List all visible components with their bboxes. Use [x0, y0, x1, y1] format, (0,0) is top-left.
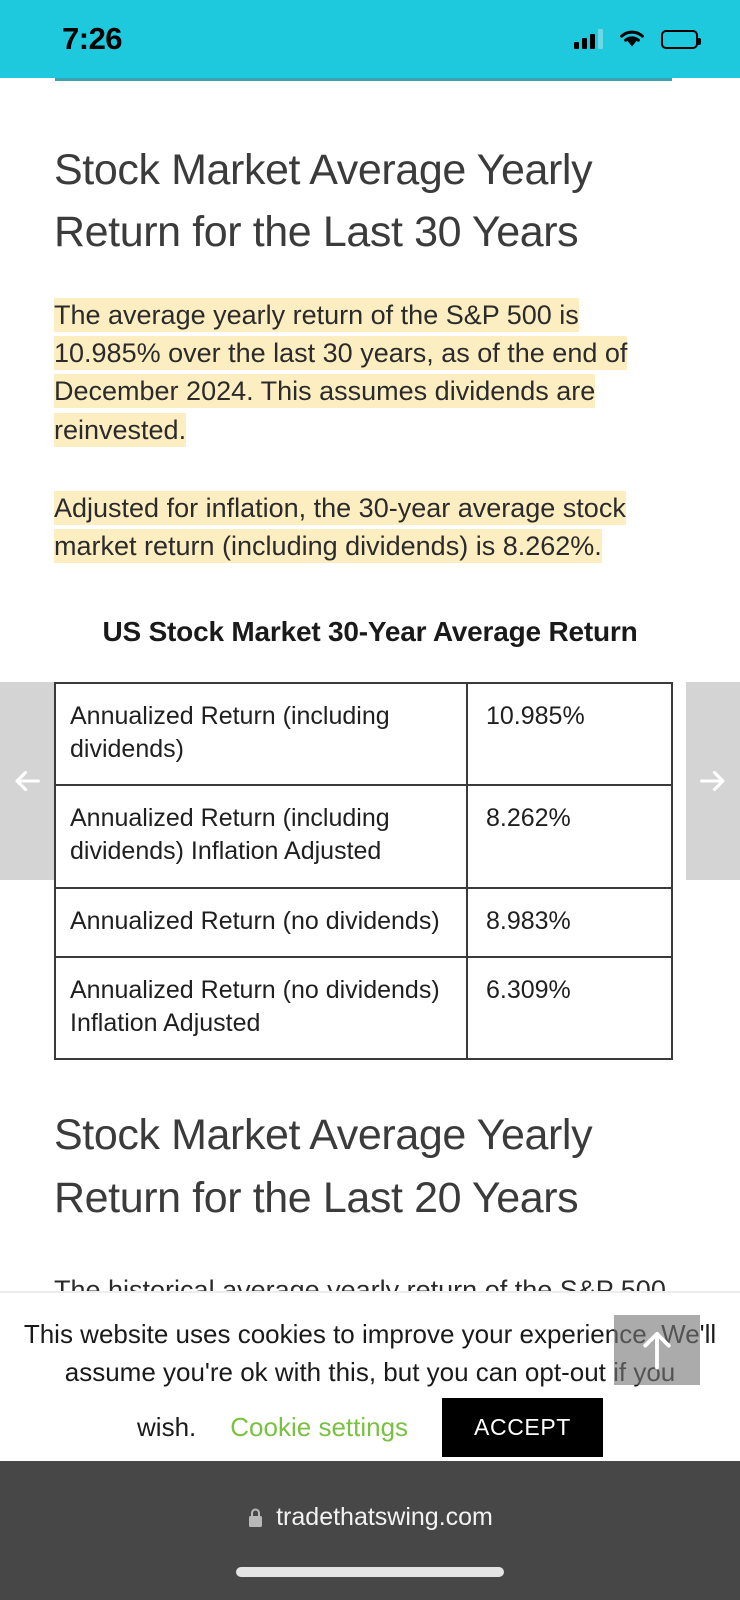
cookie-banner-message: This website uses cookies to improve you…	[24, 1319, 716, 1387]
lock-icon	[247, 1507, 264, 1528]
cookie-banner-actions: wish. Cookie settings ACCEPT	[0, 1398, 740, 1457]
table-cell-label: Annualized Return (no dividends)	[55, 888, 467, 957]
table-scroll-region: Annualized Return (including dividends) …	[54, 682, 686, 1061]
wifi-icon	[617, 26, 647, 53]
table-row: Annualized Return (including dividends) …	[55, 785, 672, 888]
accept-cookies-button[interactable]: ACCEPT	[442, 1398, 603, 1457]
table-cell-label: Annualized Return (including dividends) …	[55, 785, 467, 888]
table-cell-value: 6.309%	[467, 957, 672, 1060]
paragraph-30-year-return: The average yearly return of the S&P 500…	[54, 296, 686, 449]
home-indicator	[236, 1567, 504, 1577]
highlighted-text-2: Adjusted for inflation, the 30-year aver…	[54, 491, 626, 563]
cookie-banner-message-end: wish.	[137, 1412, 196, 1443]
table-cell-value: 10.985%	[467, 683, 672, 786]
cellular-signal-icon	[574, 29, 603, 49]
browser-bottom-bar: tradethatswing.com	[0, 1461, 740, 1600]
arrow-left-icon	[10, 764, 44, 798]
web-page-content: Stock Market Average Yearly Return for t…	[0, 81, 740, 1461]
table-row: Annualized Return (including dividends) …	[55, 683, 672, 786]
table-cell-label: Annualized Return (no dividends) Inflati…	[55, 957, 467, 1060]
paragraph-inflation-adjusted: Adjusted for inflation, the 30-year aver…	[54, 489, 686, 566]
status-bar-icons	[574, 26, 698, 53]
page-title-20-year: Stock Market Average Yearly Return for t…	[54, 1104, 686, 1229]
table-row: Annualized Return (no dividends) 8.983%	[55, 888, 672, 957]
table-scroll-left-hint[interactable]	[0, 682, 54, 880]
status-bar: 7:26	[0, 0, 740, 78]
article-body: Stock Market Average Yearly Return for t…	[0, 139, 740, 1348]
battery-icon	[661, 30, 698, 49]
url-bar[interactable]: tradethatswing.com	[247, 1503, 493, 1532]
table-scroll-right-hint[interactable]	[686, 682, 740, 880]
table-cell-value: 8.983%	[467, 888, 672, 957]
table-cell-value: 8.262%	[467, 785, 672, 888]
arrow-up-icon	[639, 1328, 675, 1372]
table-title: US Stock Market 30-Year Average Return	[54, 616, 686, 648]
cookie-settings-link[interactable]: Cookie settings	[230, 1412, 408, 1443]
page-title-30-year: Stock Market Average Yearly Return for t…	[54, 139, 686, 264]
status-bar-time: 7:26	[62, 21, 122, 57]
url-text: tradethatswing.com	[276, 1503, 493, 1532]
stock-returns-table: Annualized Return (including dividends) …	[54, 682, 673, 1061]
scroll-to-top-button[interactable]	[614, 1315, 700, 1385]
table-cell-label: Annualized Return (including dividends)	[55, 683, 467, 786]
highlighted-text-1: The average yearly return of the S&P 500…	[54, 298, 627, 447]
arrow-right-icon	[696, 764, 730, 798]
table-row: Annualized Return (no dividends) Inflati…	[55, 957, 672, 1060]
